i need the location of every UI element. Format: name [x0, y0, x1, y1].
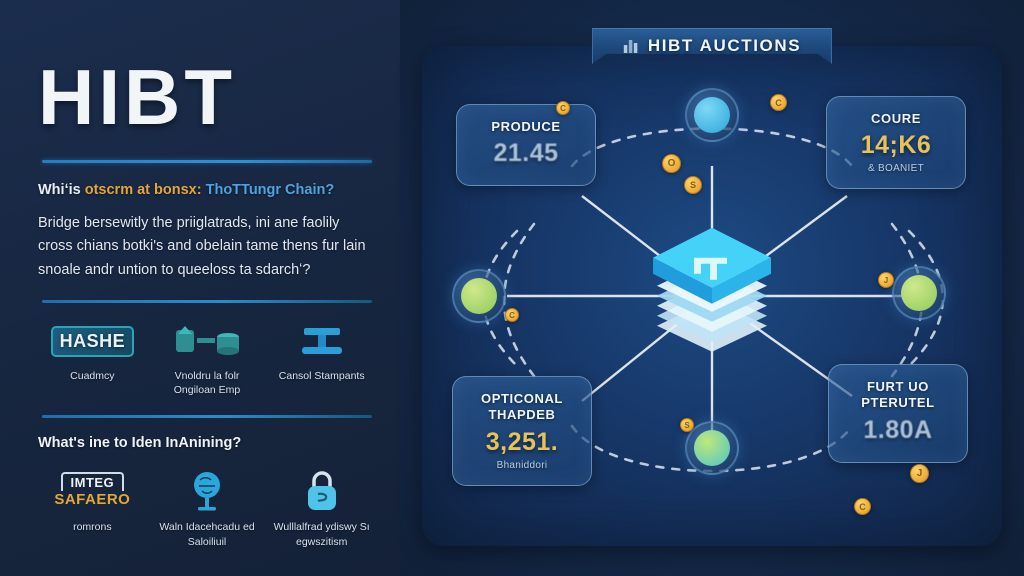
stat-card-coure[interactable]: COURE 14;K6 & BOANIET: [826, 96, 966, 189]
feature-caption: Cansol Stampants: [269, 369, 374, 383]
stat-card-opticonal[interactable]: OPTICONAL THAPDEB 3,251. Bhaniddori: [452, 376, 592, 486]
card-subtext: Bhaniddori: [461, 460, 583, 471]
divider-top: [42, 160, 372, 163]
card-title: OPTICONAL THAPDEB: [461, 391, 583, 424]
divider-lower: [42, 415, 372, 418]
brand-title: HIBT: [38, 58, 376, 136]
network-node-bottom[interactable]: [685, 421, 739, 475]
card-title: COURE: [835, 111, 957, 127]
hash-badge-label: HASHE: [51, 326, 135, 357]
feature-item-stamp[interactable]: Cansol Stampants: [267, 319, 376, 397]
feature-caption: Waln Idacehcadu ed Saloiliuil: [155, 520, 260, 548]
bracket-badge-label: IMTEG: [61, 472, 125, 491]
question-1-part-white: Whiʻis: [38, 182, 85, 198]
feature-item-brain[interactable]: Waln Idacehcadu ed Saloiliuil: [153, 464, 262, 548]
chart-icon: [623, 38, 639, 54]
node-link-icon: [155, 319, 260, 365]
card-title: FURT UO PTERUTEL: [837, 379, 959, 412]
bracket-badge-icon: IMTEG SAFAERO: [40, 464, 145, 516]
hash-badge-icon: HASHE: [40, 319, 145, 365]
question-heading-2: What's ine to Iden InAnining?: [38, 434, 376, 453]
globe-node-icon: [901, 275, 937, 311]
stat-card-produce[interactable]: PRODUCE 21.45: [456, 104, 596, 186]
banner-title: HIBT AUCTIONS: [648, 36, 801, 56]
card-value: 1.80A: [837, 416, 959, 445]
bracket-badge-gold-label: SAFAERO: [54, 491, 130, 508]
feature-item-hashe[interactable]: HASHE Cuadmcy: [38, 319, 147, 397]
feature-item-imteg[interactable]: IMTEG SAFAERO romrons: [38, 464, 147, 548]
feature-item-oracle[interactable]: Vnoldru la folr Ongiloan Emp: [153, 319, 262, 397]
feature-row-1: HASHE Cuadmcy Vnoldru la folr Ongiloan E…: [38, 319, 376, 397]
feature-item-lock[interactable]: Wulllalfrad ydiswy Sı egwszitism: [267, 464, 376, 548]
coin-icon: C: [505, 308, 519, 322]
token-node-icon: [694, 97, 730, 133]
padlock-icon: [269, 464, 374, 516]
right-panel: HIBT AUCTIONS: [400, 0, 1024, 576]
ledger-node-icon: [694, 430, 730, 466]
question-heading-1: Whiʻis otscrm at bonsx: ThoTTungr Chain?: [38, 181, 376, 200]
coin-icon: C: [854, 498, 871, 515]
coin-icon: O: [662, 154, 681, 173]
network-node-right[interactable]: [892, 266, 946, 320]
infographic-root: HIBT Whiʻis otscrm at bonsx: ThoTTungr C…: [0, 0, 1024, 576]
feature-row-2: IMTEG SAFAERO romrons Waln Idacehcadu ed…: [38, 464, 376, 548]
card-title: PRODUCE: [465, 119, 587, 135]
blockchain-stack-icon[interactable]: [647, 224, 777, 363]
coin-icon: J: [910, 464, 929, 483]
question-1-part-blue: ThoTTungr Chain?: [202, 182, 335, 198]
coin-icon: C: [556, 101, 570, 115]
network-board: PRODUCE 21.45 COURE 14;K6 & BOANIET OPTI…: [422, 46, 1002, 546]
card-subtext: & BOANIET: [835, 163, 957, 174]
divider-middle: [42, 300, 372, 303]
coin-icon: J: [878, 272, 894, 288]
brain-circuit-icon: [155, 464, 260, 516]
wallet-node-icon: [461, 278, 497, 314]
feature-caption: Vnoldru la folr Ongiloan Emp: [155, 369, 260, 397]
question-1-part-gold: otscrm at bonsx:: [85, 182, 202, 198]
network-node-left[interactable]: [452, 269, 506, 323]
card-value: 14;K6: [835, 131, 957, 160]
card-value: 3,251.: [461, 428, 583, 457]
anvil-icon: [269, 319, 374, 365]
coin-icon: S: [684, 176, 702, 194]
feature-caption: Cuadmcy: [40, 369, 145, 383]
network-node-top[interactable]: [685, 88, 739, 142]
stat-card-furt[interactable]: FURT UO PTERUTEL 1.80A: [828, 364, 968, 463]
card-value: 21.45: [465, 139, 587, 168]
body-paragraph: Bridge bersewitly the priiglatrads, ini …: [38, 212, 368, 282]
feature-caption: romrons: [40, 520, 145, 534]
coin-icon: C: [770, 94, 787, 111]
left-panel: HIBT Whiʻis otscrm at bonsx: ThoTTungr C…: [0, 0, 400, 576]
feature-caption: Wulllalfrad ydiswy Sı egwszitism: [269, 520, 374, 548]
coin-icon: S: [680, 418, 694, 432]
